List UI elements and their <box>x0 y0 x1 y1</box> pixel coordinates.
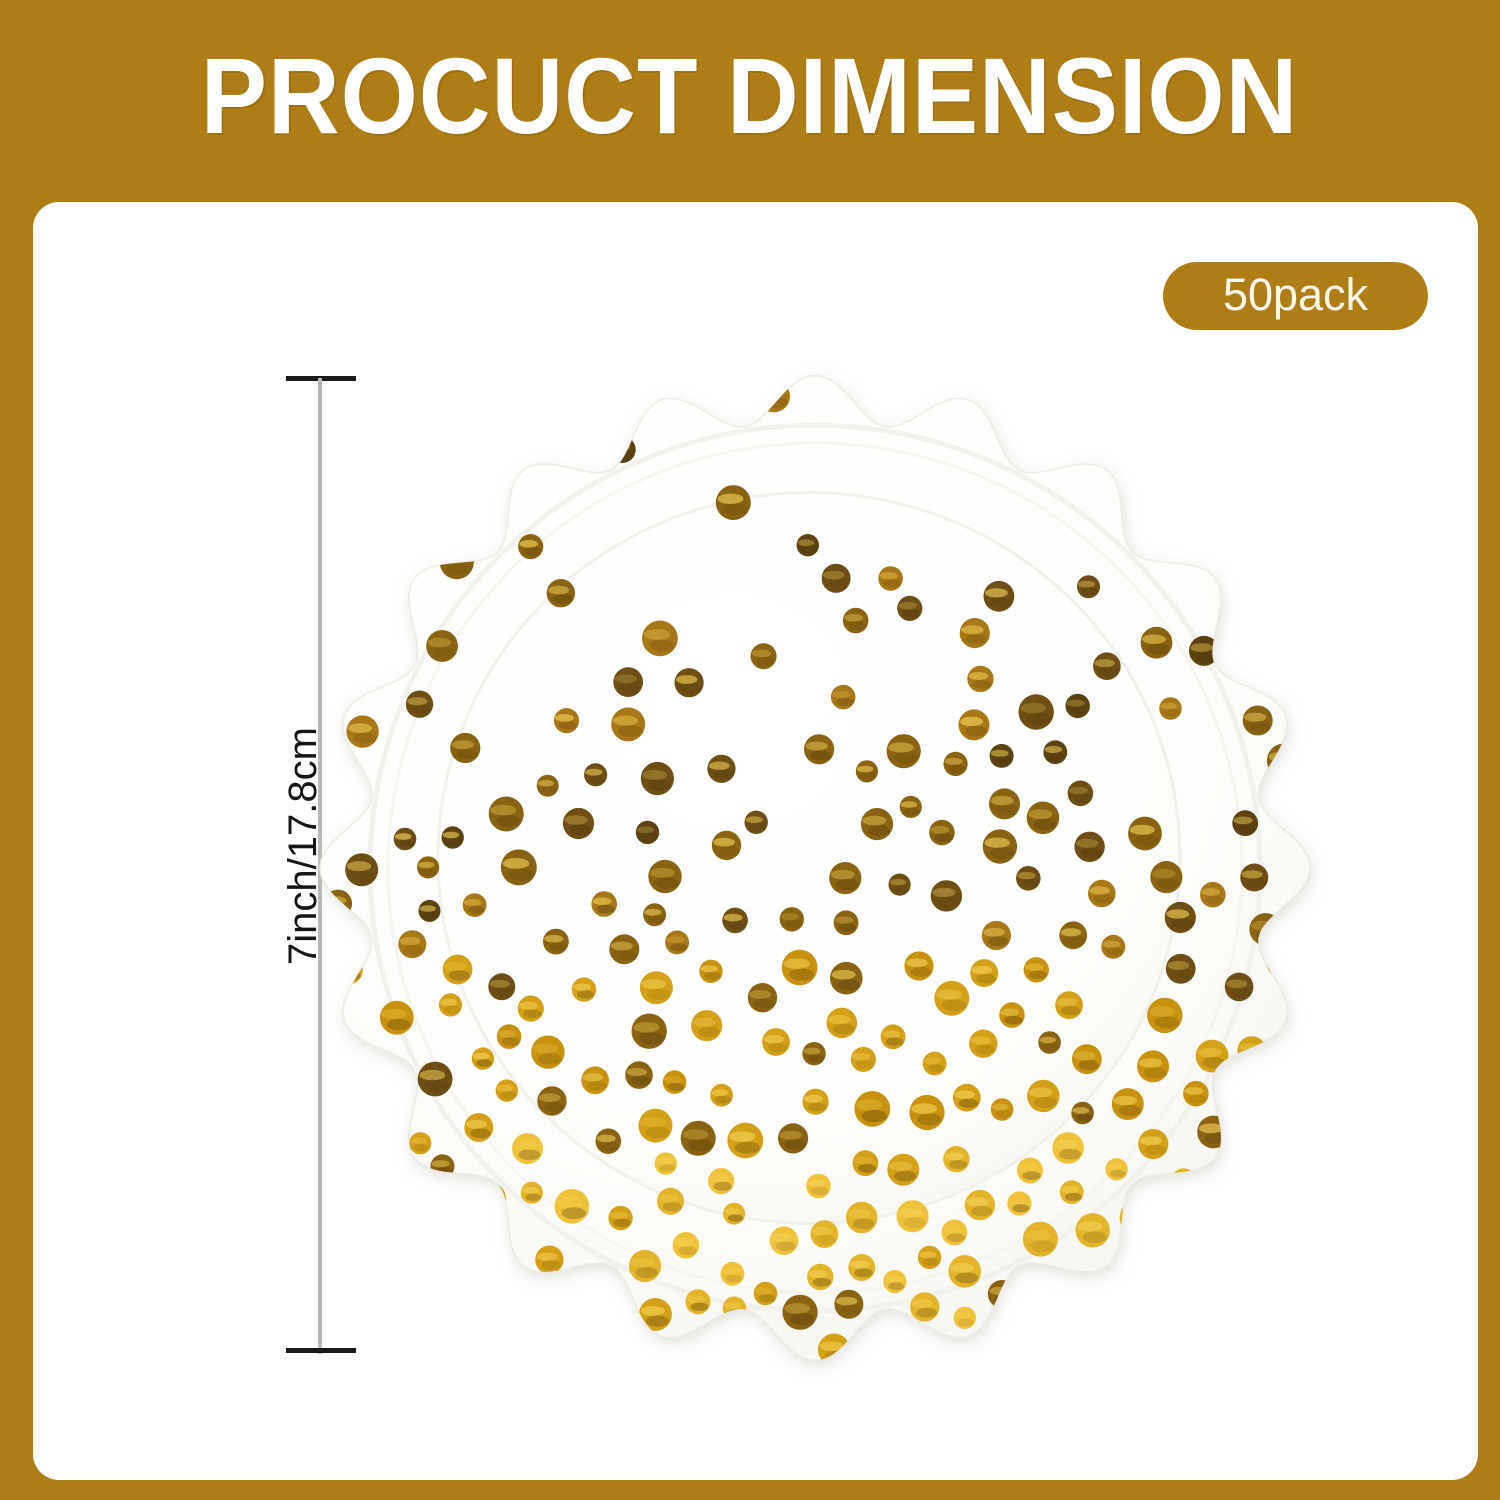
confetti-dot <box>596 1128 622 1154</box>
confetti-dot <box>641 762 674 795</box>
confetti-dot <box>1074 832 1104 862</box>
confetti-dot <box>1267 953 1290 976</box>
confetti-dot <box>345 853 378 886</box>
confetti-dot <box>625 1061 653 1089</box>
confetti-dot <box>472 1047 494 1069</box>
confetti-dot <box>1200 882 1226 908</box>
confetti-dot <box>883 1270 906 1293</box>
confetti-dot <box>572 977 596 1001</box>
confetti-dot <box>999 1002 1025 1028</box>
confetti-dot <box>745 811 768 834</box>
confetti-dot <box>335 956 363 984</box>
confetti-dot <box>758 380 790 412</box>
confetti-dot <box>1120 1201 1153 1234</box>
confetti-dot <box>591 891 617 917</box>
confetti-dot <box>346 715 378 747</box>
confetti-dot <box>1249 913 1281 945</box>
confetti-dot <box>1027 802 1060 835</box>
page-title: PROCUCT DIMENSION <box>201 42 1299 158</box>
confetti-dot <box>923 1052 947 1076</box>
confetti-dot <box>887 1154 919 1186</box>
confetti-dot <box>1027 1080 1059 1112</box>
confetti-dot <box>1172 1168 1195 1191</box>
confetti-dot <box>722 908 748 934</box>
confetti-dot <box>708 1168 734 1194</box>
confetti-dot <box>611 707 645 741</box>
confetti-dot <box>1240 864 1268 892</box>
confetti-dot <box>991 1098 1014 1121</box>
confetti-dot <box>783 1295 818 1330</box>
confetti-dot <box>727 1123 763 1159</box>
confetti-dot <box>1043 740 1067 764</box>
confetti-dot <box>834 1290 863 1319</box>
confetti-dot <box>464 1113 493 1142</box>
confetti-dot <box>636 821 659 844</box>
product-dimension-card: PROCUCT DIMENSION 50pack 7inch/17.8cm <box>0 0 1500 1500</box>
confetti-dot <box>488 973 515 1000</box>
confetti-dot <box>830 962 863 995</box>
confetti-dot <box>853 1150 879 1176</box>
confetti-dot <box>877 1331 901 1355</box>
confetti-dot <box>942 1220 968 1246</box>
confetti-dot <box>827 1008 858 1039</box>
confetti-dot <box>778 1123 808 1153</box>
confetti-dot <box>1243 706 1273 736</box>
confetti-dot <box>543 929 569 955</box>
confetti-dot <box>463 893 487 917</box>
confetti-dot <box>398 930 426 958</box>
confetti-dot <box>861 808 893 840</box>
confetti-dot <box>745 1332 775 1362</box>
confetti-dot <box>834 910 859 935</box>
confetti-dot <box>878 566 903 591</box>
title-bar: PROCUCT DIMENSION <box>0 0 1500 200</box>
confetti-dot <box>1017 1158 1043 1184</box>
confetti-dot <box>521 1182 543 1204</box>
confetti-dot <box>887 734 921 768</box>
confetti-dot <box>969 1030 997 1058</box>
confetti-dot <box>970 959 998 987</box>
confetti-dot <box>1165 902 1196 933</box>
confetti-dot <box>489 797 524 832</box>
confetti-dot <box>648 860 681 893</box>
confetti-dot <box>1088 880 1116 908</box>
confetti-dot <box>380 1001 414 1035</box>
confetti-dot <box>1024 957 1049 982</box>
confetti-dot <box>989 788 1020 819</box>
confetti-dot <box>953 1084 981 1112</box>
confetti-dot <box>1196 1040 1229 1073</box>
confetti-dot <box>417 856 439 878</box>
confetti-dot <box>959 709 990 740</box>
confetti-dot <box>1105 1158 1127 1180</box>
confetti-dot <box>748 983 777 1012</box>
confetti-dot <box>681 1121 716 1156</box>
confetti-dot <box>1137 1050 1169 1082</box>
confetti-dot <box>1218 1082 1241 1105</box>
confetti-dot <box>982 921 1011 950</box>
confetti-dot <box>629 1250 661 1282</box>
confetti-dot <box>501 849 537 885</box>
confetti-dot <box>1183 1081 1209 1107</box>
confetti-dot <box>381 627 408 654</box>
confetti-dot <box>577 1269 613 1305</box>
confetti-dot <box>443 955 473 985</box>
confetti-dot <box>943 1146 969 1172</box>
confetti-dot <box>918 1246 941 1269</box>
confetti-dot <box>1147 998 1182 1033</box>
confetti-dot <box>496 1079 518 1101</box>
confetti-dot <box>1101 935 1125 959</box>
confetti-dot <box>584 763 607 786</box>
confetti-dot <box>555 1189 590 1224</box>
confetti-dot <box>439 993 462 1016</box>
confetti-dot <box>944 752 968 776</box>
confetti-dot <box>673 1232 700 1259</box>
confetti-dot <box>723 1297 746 1320</box>
confetti-dot <box>1038 1031 1061 1054</box>
confetti-dot <box>782 950 818 986</box>
confetti-dot <box>856 760 878 782</box>
confetti-dot <box>990 744 1014 768</box>
confetti-dot <box>382 1087 413 1118</box>
confetti-dot <box>450 733 480 763</box>
confetti-dot <box>723 1203 745 1225</box>
confetti-dot <box>954 1307 976 1329</box>
confetti-dot <box>881 1024 906 1049</box>
confetti-dot <box>442 826 464 848</box>
confetti-dot <box>608 1206 632 1230</box>
confetti-dot <box>960 618 990 648</box>
confetti-dot <box>632 1014 667 1049</box>
confetti-dot <box>909 1095 944 1130</box>
confetti-dot <box>754 1282 778 1306</box>
confetti-dot <box>657 1188 684 1215</box>
confetti-dot <box>854 1091 890 1127</box>
confetti-dot <box>497 1024 522 1049</box>
confetti-dot <box>531 1035 564 1068</box>
confetti-dot <box>1059 921 1087 949</box>
confetti-dot <box>897 1200 929 1232</box>
confetti-dot <box>655 1152 677 1174</box>
confetti-dot <box>751 643 777 669</box>
confetti-dot <box>831 685 856 710</box>
scalloped-plate-illustration <box>33 202 1478 1480</box>
confetti-dot <box>419 900 441 922</box>
confetti-dot <box>643 903 666 926</box>
confetti-dot <box>640 971 673 1004</box>
confetti-dot <box>843 608 869 634</box>
confetti-dot <box>910 1292 939 1321</box>
confetti-dot <box>537 775 559 797</box>
confetti-dot <box>663 1070 687 1094</box>
confetti-dot <box>967 666 993 692</box>
confetti-dot <box>675 668 704 697</box>
confetti-dot <box>609 934 639 964</box>
confetti-dot <box>846 1202 878 1234</box>
confetti-dot <box>518 534 543 559</box>
confetti-dot <box>1225 973 1254 1002</box>
confetti-dot <box>639 1298 672 1331</box>
confetti-dot <box>762 1028 790 1056</box>
confetti-dot <box>431 1154 455 1178</box>
confetti-dot <box>1077 575 1100 598</box>
confetti-dot <box>518 996 544 1022</box>
confetti-dot <box>983 829 1017 863</box>
confetti-dot <box>324 890 352 918</box>
confetti-dot <box>1060 1180 1084 1204</box>
confetti-dot <box>537 1086 566 1115</box>
confetti-dot <box>929 820 955 846</box>
confetti-dot <box>721 1262 745 1286</box>
product-image <box>33 202 1478 1480</box>
confetti-dot <box>829 862 861 894</box>
confetti-dot <box>904 951 933 980</box>
confetti-dot <box>803 1089 829 1115</box>
confetti-dot <box>409 1132 431 1154</box>
confetti-dot <box>1189 636 1219 666</box>
confetti-dot <box>707 755 735 783</box>
confetti-dot <box>1052 1132 1084 1164</box>
confetti-dot <box>1166 954 1196 984</box>
confetti-dot <box>581 1066 609 1094</box>
confetti-dot <box>699 960 722 983</box>
confetti-dot <box>1023 1222 1058 1257</box>
confetti-dot <box>988 1280 1016 1308</box>
confetti-dot <box>1007 1191 1031 1215</box>
confetti-dot <box>889 874 911 896</box>
confetti-dot <box>931 880 962 911</box>
confetti-dot <box>822 564 851 593</box>
confetti-dot <box>613 667 643 697</box>
confetti-dot <box>780 907 804 931</box>
confetti-dot <box>900 796 922 818</box>
confetti-dot <box>797 534 819 556</box>
confetti-dot <box>476 1183 505 1212</box>
confetti-dot <box>406 691 433 718</box>
confetti-dot <box>665 930 689 954</box>
confetti-dot <box>811 1220 839 1248</box>
content-panel: 50pack 7inch/17.8cm <box>33 202 1478 1480</box>
confetti-dot <box>1093 652 1121 680</box>
confetti-dot <box>1034 1271 1065 1302</box>
confetti-dot <box>1232 810 1258 836</box>
confetti-dot <box>685 1289 710 1314</box>
confetti-dot <box>691 1010 722 1041</box>
confetti-dot <box>712 831 741 860</box>
confetti-dot <box>394 828 417 851</box>
confetti-dot <box>1019 694 1054 729</box>
confetti-dot <box>440 545 474 579</box>
confetti-dot <box>1138 1129 1168 1159</box>
confetti-dot <box>642 621 678 657</box>
confetti-dot <box>1197 1116 1230 1149</box>
confetti-dot <box>770 1226 799 1255</box>
confetti-dot <box>806 1174 831 1199</box>
confetti-dot <box>1128 817 1162 851</box>
confetti-dot <box>563 808 594 839</box>
confetti-dot <box>897 596 922 621</box>
confetti-dot <box>1066 694 1090 718</box>
confetti-dot <box>1071 1102 1094 1125</box>
confetti-dot <box>1072 1044 1102 1074</box>
confetti-dot <box>535 1246 563 1274</box>
confetti-dot <box>984 581 1015 612</box>
confetti-dot <box>934 981 969 1016</box>
confetti-dot <box>426 630 458 662</box>
confetti-dot <box>807 1264 833 1290</box>
confetti-dot <box>804 734 834 764</box>
confetti-dot <box>851 1047 876 1072</box>
confetti-dot <box>1150 861 1182 893</box>
confetti-dot <box>1141 627 1173 659</box>
confetti-dot <box>512 1133 543 1164</box>
confetti-dot <box>1267 744 1301 778</box>
confetti-dot <box>1016 866 1041 891</box>
confetti-dot <box>710 1084 733 1107</box>
confetti-dot <box>418 1062 453 1097</box>
confetti-dot <box>1055 991 1083 1019</box>
confetti-dot <box>639 1109 673 1143</box>
confetti-dot <box>1068 781 1094 807</box>
confetti-dot <box>1159 697 1182 720</box>
confetti-dot <box>949 1255 982 1288</box>
confetti-dot <box>716 485 751 520</box>
confetti-dot <box>802 1042 825 1065</box>
confetti-dot <box>818 1334 850 1366</box>
confetti-dot <box>1237 1036 1266 1065</box>
confetti-dot <box>965 1190 995 1220</box>
confetti-dot <box>1112 1088 1144 1120</box>
confetti-dot <box>554 708 579 733</box>
confetti-dot <box>547 579 575 607</box>
confetti-dot <box>1076 1213 1110 1247</box>
confetti-dot <box>848 1254 875 1281</box>
